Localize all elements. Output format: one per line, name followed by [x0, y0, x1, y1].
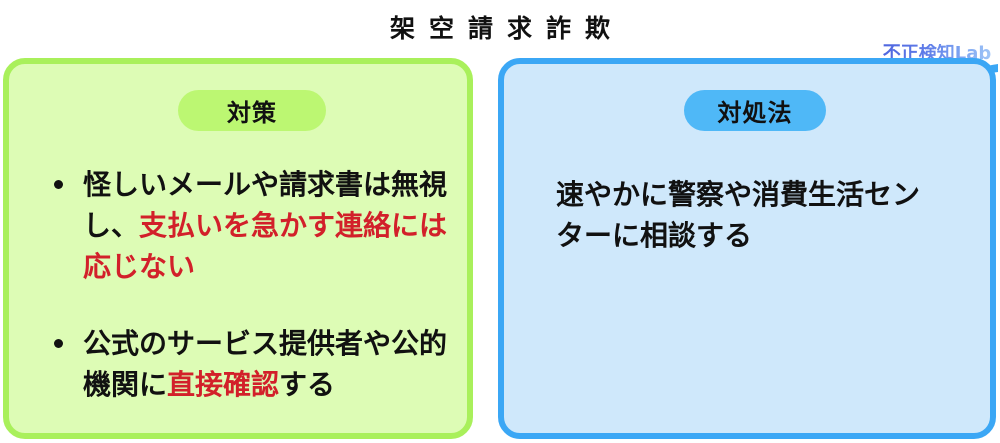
- list-item: 怪しいメールや請求書は無視し、支払いを急かす連絡には応じない: [45, 164, 449, 287]
- panel-response: 対処法 速やかに警察や消費生活センターに相談する: [498, 58, 996, 439]
- list-item: 公式のサービス提供者や公的機関に直接確認する: [45, 323, 449, 405]
- bullet-dot-icon: [54, 339, 63, 348]
- prevention-bullet-list: 怪しいメールや請求書は無視し、支払いを急かす連絡には応じない 公式のサービス提供…: [45, 164, 449, 405]
- list-item-text-plain-tail: する: [279, 368, 335, 401]
- list-item-text-emphasis: 直接確認: [167, 368, 279, 401]
- bullet-dot-icon: [54, 180, 63, 189]
- page-title: 架空請求詐欺: [376, 16, 624, 41]
- panel-prevention-badge: 対策: [178, 90, 326, 131]
- panel-response-badge: 対処法: [684, 90, 826, 131]
- page-title-bar: 架空請求詐欺: [0, 0, 1000, 57]
- response-body-text: 速やかに警察や消費生活センターに相談する: [556, 174, 946, 256]
- panel-prevention: 対策 怪しいメールや請求書は無視し、支払いを急かす連絡には応じない 公式のサービ…: [3, 58, 473, 439]
